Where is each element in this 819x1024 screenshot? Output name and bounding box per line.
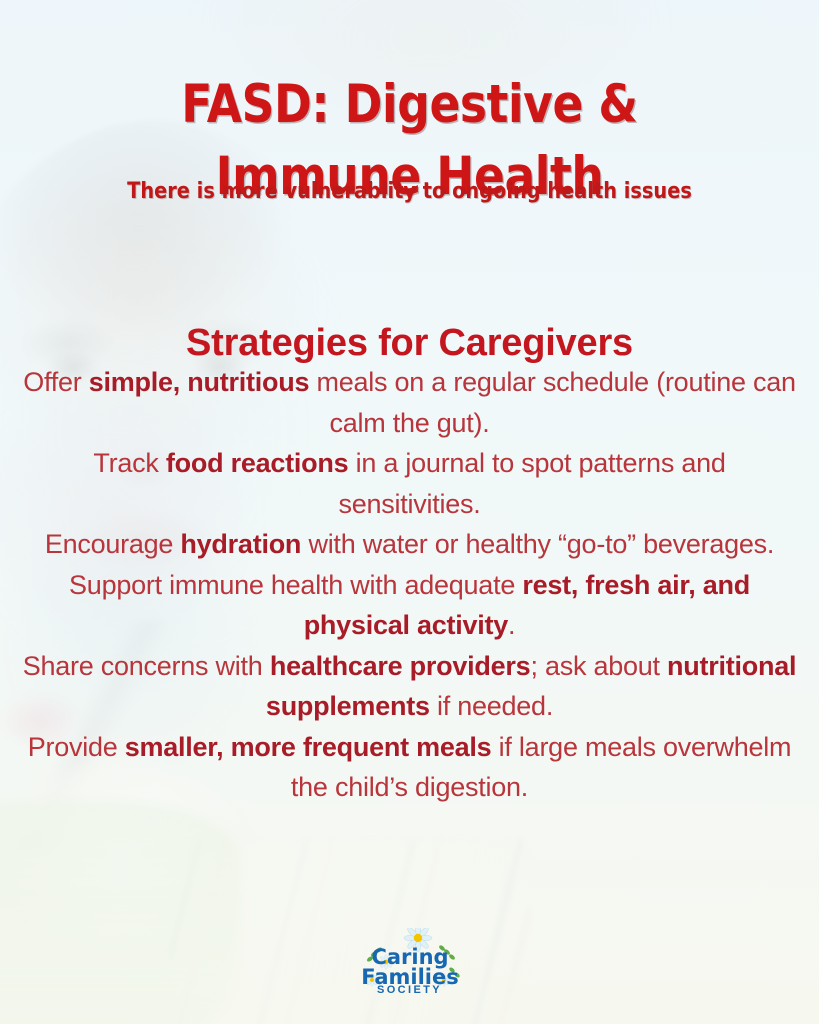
strategy-text: Track bbox=[93, 448, 166, 478]
strategy-text: if needed. bbox=[430, 691, 553, 721]
strategy-emphasis: smaller, more frequent meals bbox=[125, 732, 492, 762]
strategy-text: Share concerns with bbox=[23, 651, 270, 681]
strategy-text: in a journal to spot patterns and sensit… bbox=[338, 448, 725, 519]
strategy-text: Encourage bbox=[45, 529, 181, 559]
strategy-item-healthcare-providers: Share concerns with healthcare providers… bbox=[22, 646, 797, 727]
strategy-list: Offer simple, nutritious meals on a regu… bbox=[22, 362, 797, 808]
strategy-emphasis: food reactions bbox=[166, 448, 349, 478]
strategy-text: with water or healthy “go-to” beverages. bbox=[301, 529, 774, 559]
strategy-item-immune-support: Support immune health with adequate rest… bbox=[22, 565, 797, 646]
logo-caption-society: SOCIETY bbox=[344, 984, 476, 996]
caring-families-society-logo: Caring Families SOCIETY bbox=[344, 928, 476, 1000]
strategy-emphasis: simple, nutritious bbox=[89, 367, 310, 397]
strategy-item-meals-schedule: Offer simple, nutritious meals on a regu… bbox=[22, 362, 797, 443]
strategy-emphasis: healthcare providers bbox=[270, 651, 531, 681]
strategy-text: ; ask about bbox=[530, 651, 667, 681]
strategy-item-hydration: Encourage hydration with water or health… bbox=[22, 524, 797, 565]
poster-content: FASD: Digestive & Immune Health There is… bbox=[0, 0, 819, 1024]
poster-subtitle: There is more vulnerablity to ongoing he… bbox=[49, 178, 770, 206]
strategy-text: Provide bbox=[28, 732, 125, 762]
strategy-text: meals on a regular schedule (routine can… bbox=[309, 367, 796, 438]
strategy-item-food-reactions-journal: Track food reactions in a journal to spo… bbox=[22, 443, 797, 524]
strategy-item-smaller-meals: Provide smaller, more frequent meals if … bbox=[22, 727, 797, 808]
poster-canvas: FASD: Digestive & Immune Health There is… bbox=[0, 0, 819, 1024]
strategy-emphasis: hydration bbox=[180, 529, 301, 559]
section-heading-strategies: Strategies for Caregivers bbox=[0, 320, 819, 366]
strategy-text: . bbox=[508, 610, 515, 640]
strategy-text: Offer bbox=[23, 367, 89, 397]
strategy-text: Support immune health with adequate bbox=[69, 570, 522, 600]
